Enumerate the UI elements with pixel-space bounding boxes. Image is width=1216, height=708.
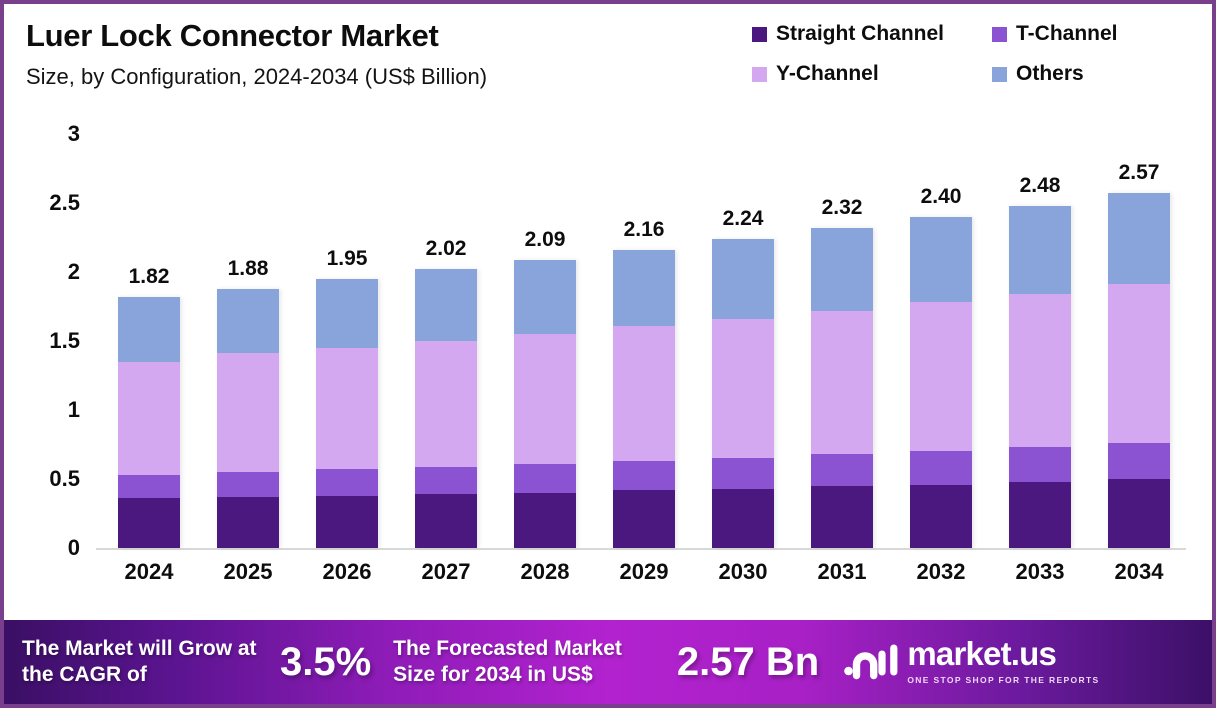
bar-value-label: 2.16 — [597, 218, 691, 242]
chart-infographic: Luer Lock Connector Market Size, by Conf… — [0, 0, 1216, 708]
bar-segment-y-channel[interactable] — [118, 362, 180, 475]
bar-segment-straight-channel[interactable] — [1108, 479, 1170, 548]
bar-segment-others[interactable] — [712, 239, 774, 319]
brand-name: market.us — [907, 635, 1056, 672]
y-axis-tick-label: 3 — [34, 121, 80, 147]
bar-segment-t-channel[interactable] — [910, 451, 972, 484]
bar-segment-t-channel[interactable] — [415, 467, 477, 495]
bar-segment-t-channel[interactable] — [1009, 447, 1071, 482]
bar-segment-straight-channel[interactable] — [415, 494, 477, 548]
forecast-caption: The Forecasted Market Size for 2034 in U… — [393, 636, 660, 687]
plot-area: 00.511.522.53 1.8220241.8820251.9520262.… — [4, 4, 1216, 616]
bar-segment-others[interactable] — [811, 228, 873, 311]
bar-group-2025[interactable]: 1.882025 — [217, 289, 279, 548]
bar-segment-straight-channel[interactable] — [217, 497, 279, 548]
x-axis-tick-label: 2030 — [694, 559, 792, 585]
stacked-bar[interactable] — [1108, 193, 1170, 548]
bar-value-label: 1.88 — [201, 257, 295, 281]
bar-segment-others[interactable] — [514, 260, 576, 335]
x-axis-tick-label: 2027 — [397, 559, 495, 585]
bar-segment-straight-channel[interactable] — [514, 493, 576, 548]
brand-logo: market.us ONE STOP SHOP FOR THE REPORTS — [842, 637, 1212, 688]
stacked-bar[interactable] — [415, 269, 477, 548]
bar-group-2026[interactable]: 1.952026 — [316, 279, 378, 548]
x-axis-tick-label: 2032 — [892, 559, 990, 585]
bar-segment-straight-channel[interactable] — [118, 498, 180, 548]
bar-value-label: 2.32 — [795, 196, 889, 220]
x-axis-tick-label: 2024 — [100, 559, 198, 585]
x-axis-tick-label: 2029 — [595, 559, 693, 585]
brand-tagline: ONE STOP SHOP FOR THE REPORTS — [907, 675, 1099, 685]
bar-segment-y-channel[interactable] — [415, 341, 477, 467]
bar-segment-t-channel[interactable] — [613, 461, 675, 490]
x-axis-tick-label: 2025 — [199, 559, 297, 585]
bar-segment-t-channel[interactable] — [712, 458, 774, 488]
bar-group-2031[interactable]: 2.322031 — [811, 228, 873, 548]
bar-segment-t-channel[interactable] — [118, 475, 180, 498]
bar-group-2027[interactable]: 2.022027 — [415, 269, 477, 548]
stacked-bar[interactable] — [217, 289, 279, 548]
bar-segment-straight-channel[interactable] — [1009, 482, 1071, 548]
bar-segment-straight-channel[interactable] — [910, 485, 972, 548]
stacked-bar[interactable] — [514, 260, 576, 548]
bar-segment-y-channel[interactable] — [1009, 294, 1071, 447]
bar-value-label: 1.95 — [300, 247, 394, 271]
bar-segment-t-channel[interactable] — [217, 472, 279, 497]
stacked-bar[interactable] — [613, 250, 675, 548]
x-axis-tick-label: 2028 — [496, 559, 594, 585]
market-us-logo-icon — [842, 640, 900, 684]
bar-segment-others[interactable] — [217, 289, 279, 354]
bar-segment-others[interactable] — [910, 217, 972, 303]
stacked-bar[interactable] — [316, 279, 378, 548]
stacked-bar[interactable] — [1009, 206, 1071, 548]
bar-group-2033[interactable]: 2.482033 — [1009, 206, 1071, 548]
bar-segment-others[interactable] — [1108, 193, 1170, 284]
bar-group-2024[interactable]: 1.822024 — [118, 297, 180, 548]
bar-group-2030[interactable]: 2.242030 — [712, 239, 774, 548]
bar-segment-t-channel[interactable] — [1108, 443, 1170, 479]
bar-group-2029[interactable]: 2.162029 — [613, 250, 675, 548]
stacked-bar[interactable] — [811, 228, 873, 548]
bar-segment-straight-channel[interactable] — [316, 496, 378, 548]
bar-segment-others[interactable] — [613, 250, 675, 326]
bar-segment-y-channel[interactable] — [1108, 284, 1170, 443]
bar-segment-y-channel[interactable] — [613, 326, 675, 461]
x-axis-tick-label: 2026 — [298, 559, 396, 585]
y-axis-tick-label: 0 — [34, 535, 80, 561]
y-axis-tick-label: 2 — [34, 259, 80, 285]
y-axis-tick-label: 1.5 — [34, 328, 80, 354]
bar-segment-others[interactable] — [415, 269, 477, 341]
bar-segment-t-channel[interactable] — [811, 454, 873, 486]
bar-group-2032[interactable]: 2.402032 — [910, 217, 972, 548]
bar-segment-y-channel[interactable] — [514, 334, 576, 464]
bar-segment-y-channel[interactable] — [217, 353, 279, 472]
cagr-value: 3.5% — [258, 640, 393, 685]
bar-segment-y-channel[interactable] — [811, 311, 873, 455]
bar-group-2034[interactable]: 2.572034 — [1108, 193, 1170, 548]
bar-segment-y-channel[interactable] — [316, 348, 378, 469]
x-axis-tick-label: 2034 — [1090, 559, 1188, 585]
bar-segment-straight-channel[interactable] — [811, 486, 873, 548]
bar-segment-y-channel[interactable] — [910, 302, 972, 451]
bar-segment-straight-channel[interactable] — [613, 490, 675, 548]
cagr-caption: The Market will Grow at the CAGR of — [22, 636, 258, 687]
bar-segment-t-channel[interactable] — [316, 469, 378, 495]
bar-segment-t-channel[interactable] — [514, 464, 576, 493]
bar-segment-y-channel[interactable] — [712, 319, 774, 458]
x-axis-tick-label: 2031 — [793, 559, 891, 585]
brand-text: market.us ONE STOP SHOP FOR THE REPORTS — [907, 637, 1212, 688]
bar-value-label: 2.48 — [993, 174, 1087, 198]
bar-segment-others[interactable] — [118, 297, 180, 362]
bar-segment-straight-channel[interactable] — [712, 489, 774, 548]
forecast-value: 2.57 Bn — [660, 640, 837, 685]
bar-value-label: 2.09 — [498, 228, 592, 252]
bar-segment-others[interactable] — [316, 279, 378, 348]
x-axis-tick-label: 2033 — [991, 559, 1089, 585]
y-axis-ticks: 00.511.522.53 — [34, 4, 80, 616]
bar-segment-others[interactable] — [1009, 206, 1071, 294]
stacked-bar[interactable] — [712, 239, 774, 548]
bar-group-2028[interactable]: 2.092028 — [514, 260, 576, 548]
y-axis-tick-label: 0.5 — [34, 466, 80, 492]
y-axis-tick-label: 2.5 — [34, 190, 80, 216]
stacked-bar[interactable] — [910, 217, 972, 548]
stacked-bar[interactable] — [118, 297, 180, 548]
bar-value-label: 2.40 — [894, 185, 988, 209]
bar-value-label: 2.24 — [696, 207, 790, 231]
y-axis-tick-label: 1 — [34, 397, 80, 423]
bar-value-label: 2.57 — [1092, 161, 1186, 185]
bar-value-label: 1.82 — [102, 265, 196, 289]
bar-value-label: 2.02 — [399, 237, 493, 261]
bar-series-container: 1.8220241.8820251.9520262.0220272.092028… — [96, 4, 1186, 616]
footer-banner: The Market will Grow at the CAGR of 3.5%… — [4, 620, 1212, 704]
